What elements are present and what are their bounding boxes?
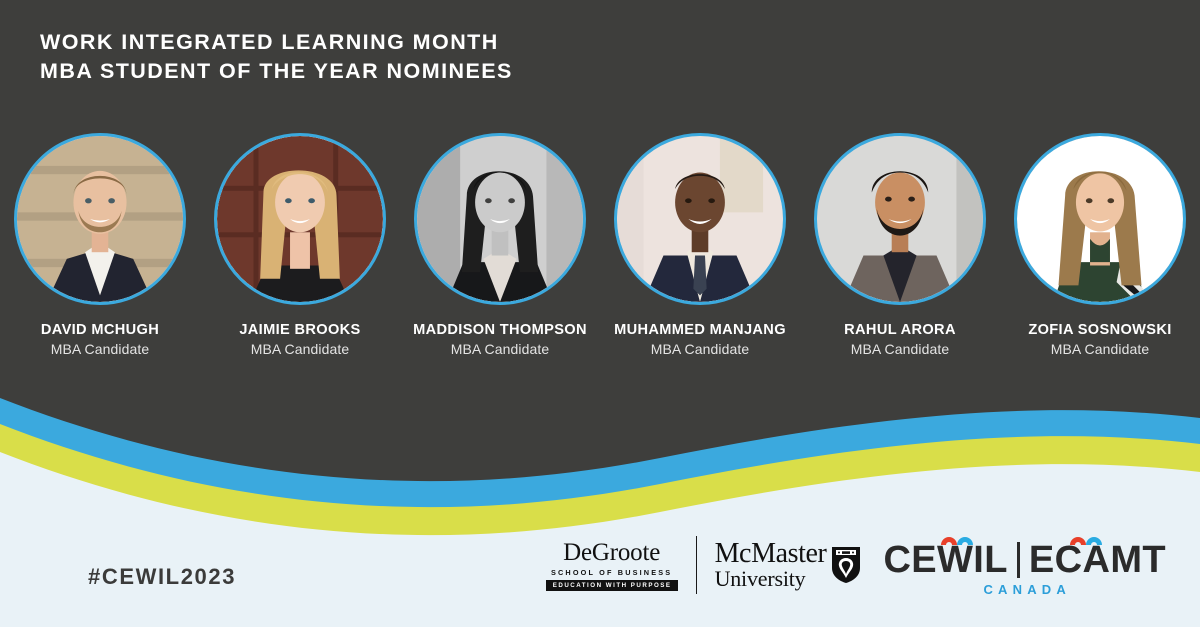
title-line-1: WORK INTEGRATED LEARNING MONTH — [40, 28, 513, 57]
nominee-role: MBA Candidate — [251, 341, 350, 357]
degroote-tagline-badge: EDUCATION WITH PURPOSE — [546, 580, 678, 591]
cewil-country-label: CANADA — [978, 582, 1071, 597]
poster-canvas: WORK INTEGRATED LEARNING MONTH MBA STUDE… — [0, 0, 1200, 627]
nominee-role: MBA Candidate — [851, 341, 950, 357]
nominee-name: MADDISON THOMPSON — [413, 322, 587, 338]
logo-divider — [696, 536, 697, 594]
degroote-wordmark: DeGroote — [563, 540, 660, 566]
nominee-card: MADDISON THOMPSON MBA Candidate — [400, 133, 600, 357]
nominee-role: MBA Candidate — [651, 341, 750, 357]
nominee-name: ZOFIA SOSNOWSKI — [1028, 322, 1171, 338]
ecamt-arc-icon — [1069, 528, 1103, 545]
nominee-name: RAHUL ARORA — [844, 322, 956, 338]
portrait-muhammed-manjang — [617, 136, 783, 302]
nominee-name: MUHAMMED MANJANG — [614, 322, 786, 338]
mcmaster-logo: McMaster University — [715, 540, 862, 590]
avatar — [1014, 133, 1186, 305]
nominee-card: DAVID MCHUGH MBA Candidate — [0, 133, 200, 357]
avatar — [614, 133, 786, 305]
cewil-arc-icon — [940, 528, 974, 545]
portrait-jaimie-brooks — [217, 136, 383, 302]
avatar — [14, 133, 186, 305]
cewil-wordmark: CEWIL ECAMT — [883, 541, 1166, 579]
portrait-rahul-arora — [817, 136, 983, 302]
mcmaster-wordmark: McMaster University — [715, 540, 827, 590]
ecamt-text: ECAMT — [1029, 541, 1166, 579]
nominee-role: MBA Candidate — [451, 341, 550, 357]
nominee-role: MBA Candidate — [51, 341, 150, 357]
nominee-card: RAHUL ARORA MBA Candidate — [800, 133, 1000, 357]
title-line-2: MBA STUDENT OF THE YEAR NOMINEES — [40, 57, 513, 86]
portrait-zofia-sosnowski — [1017, 136, 1183, 302]
degroote-subtitle: SCHOOL OF BUSINESS — [551, 568, 672, 577]
nominee-card: ZOFIA SOSNOWSKI MBA Candidate — [1000, 133, 1200, 357]
degroote-logo: DeGroote SCHOOL OF BUSINESS EDUCATION WI… — [546, 540, 678, 591]
mcmaster-line-2: University — [715, 567, 806, 590]
nominee-list: DAVID MCHUGH MBA Candidate — [0, 133, 1200, 357]
poster-title: WORK INTEGRATED LEARNING MONTH MBA STUDE… — [40, 28, 513, 86]
mcmaster-line-1: McMaster — [715, 540, 827, 567]
logo-strip: DeGroote SCHOOL OF BUSINESS EDUCATION WI… — [546, 527, 1166, 603]
cewil-text: CEWIL — [883, 541, 1007, 579]
cewil-separator — [1017, 542, 1020, 578]
nominee-name: DAVID MCHUGH — [41, 322, 159, 338]
avatar — [814, 133, 986, 305]
portrait-maddison-thompson — [417, 136, 583, 302]
cewil-logo: CEWIL ECAMT CANADA — [883, 533, 1166, 597]
portrait-david-mchugh — [17, 136, 183, 302]
nominee-role: MBA Candidate — [1051, 341, 1150, 357]
nominee-card: JAIMIE BROOKS MBA Candidate — [200, 133, 400, 357]
mcmaster-crest-icon — [831, 546, 861, 584]
hashtag: #CEWIL2023 — [88, 564, 236, 590]
avatar — [214, 133, 386, 305]
avatar — [414, 133, 586, 305]
nominee-card: MUHAMMED MANJANG MBA Candidate — [600, 133, 800, 357]
nominee-name: JAIMIE BROOKS — [239, 322, 360, 338]
